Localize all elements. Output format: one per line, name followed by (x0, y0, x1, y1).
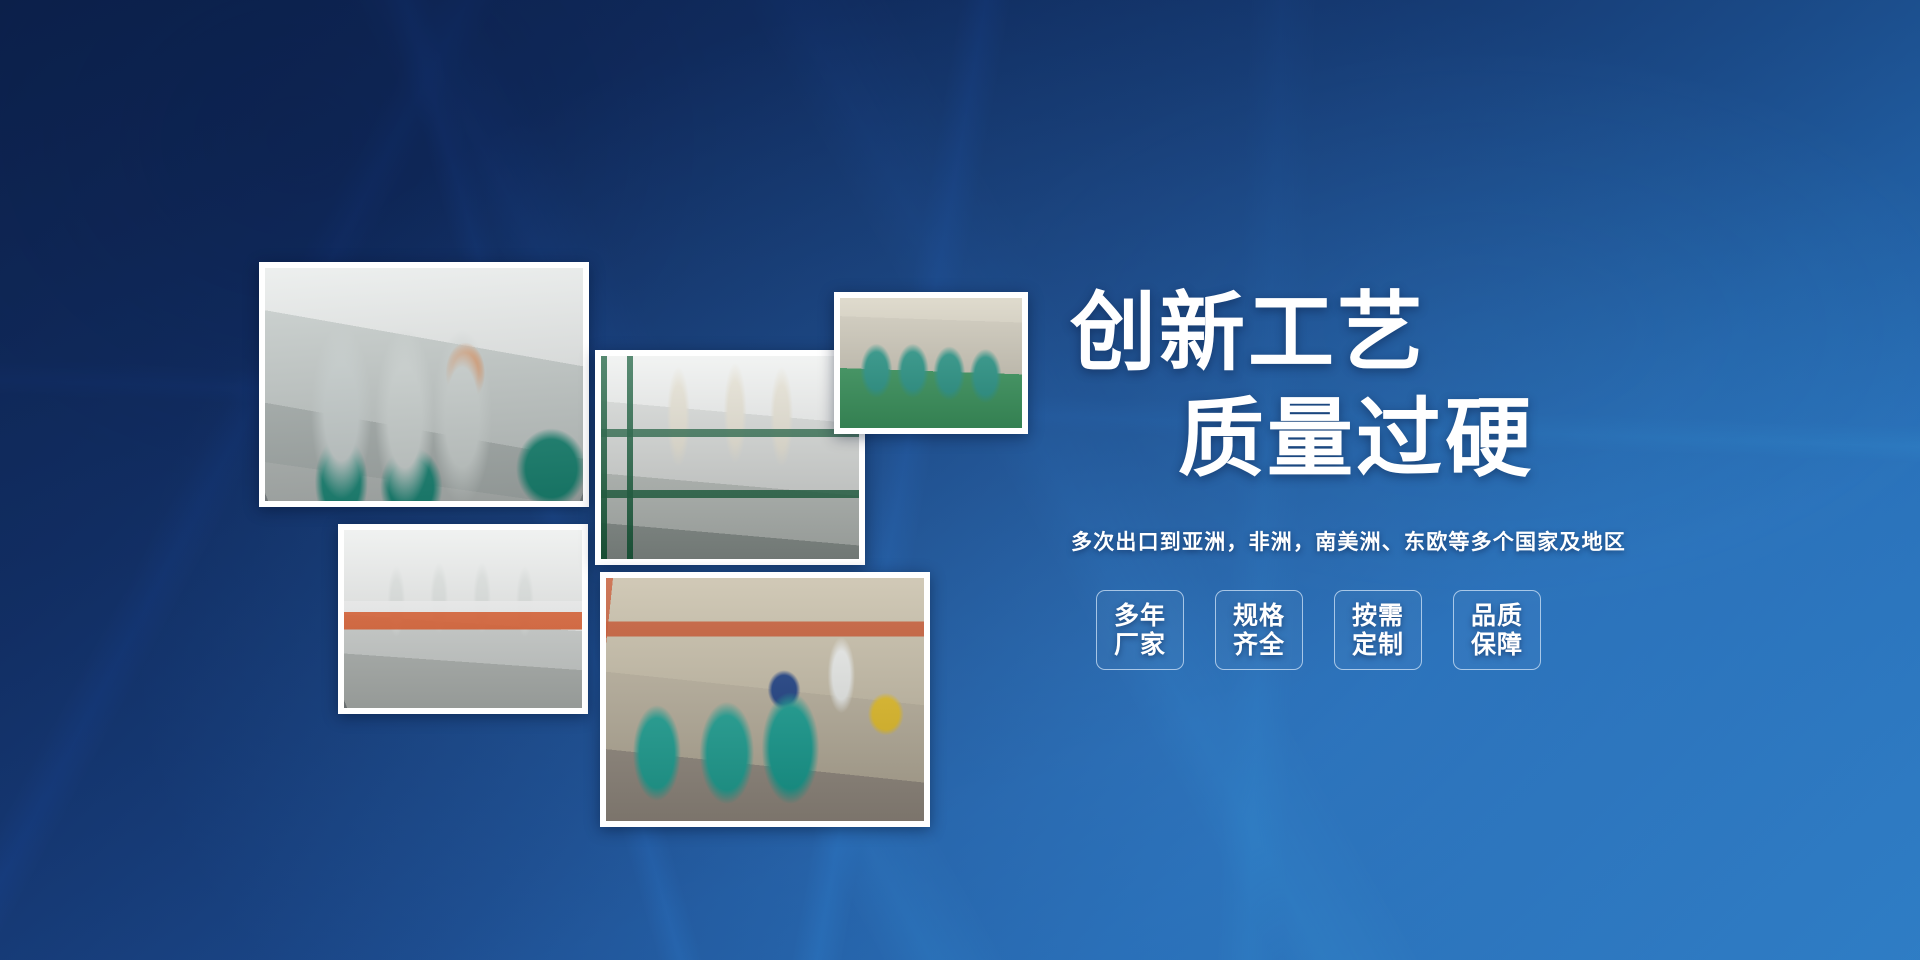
product-photo-mill-set-red-trusses[interactable] (600, 572, 930, 827)
hero-banner: 创新工艺 质量过硬 多次出口到亚洲，非洲，南美洲、东欧等多个国家及地区 多年 厂… (0, 0, 1920, 960)
badge-years-manufacturer-line-1: 多年 (1114, 601, 1166, 631)
badge-years-manufacturer[interactable]: 多年 厂家 (1096, 590, 1184, 670)
badge-custom-made[interactable]: 按需 定制 (1334, 590, 1422, 670)
subtitle: 多次出口到亚洲，非洲，南美洲、东欧等多个国家及地区 (1071, 526, 1830, 556)
photo-collage (0, 0, 1100, 960)
product-photo-milling-line[interactable] (259, 262, 589, 507)
badge-full-specifications-line-2: 齐全 (1233, 630, 1285, 660)
product-photo-flour-mill-frame-image (601, 356, 859, 559)
badge-quality-guarantee-line-1: 品质 (1471, 601, 1523, 631)
product-photo-milling-line-image (265, 268, 583, 501)
copy-block: 创新工艺 质量过硬 多次出口到亚洲，非洲，南美洲、东欧等多个国家及地区 多年 厂… (1070, 290, 1830, 670)
headline-line-2: 质量过硬 (1070, 396, 1830, 482)
badge-custom-made-line-2: 定制 (1352, 630, 1404, 660)
product-photo-teal-mills-workshop[interactable] (834, 292, 1028, 434)
headline: 创新工艺 质量过硬 (1070, 290, 1830, 482)
badge-custom-made-line-1: 按需 (1352, 601, 1404, 631)
product-photo-mill-set-red-trusses-image (606, 578, 924, 821)
product-photo-cleaning-platform[interactable] (338, 524, 588, 714)
badge-list: 多年 厂家 规格 齐全 按需 定制 品质 保障 (1096, 590, 1830, 670)
headline-line-1: 创新工艺 (1070, 290, 1830, 376)
product-photo-teal-mills-workshop-image (840, 298, 1022, 428)
product-photo-flour-mill-frame[interactable] (595, 350, 865, 565)
badge-quality-guarantee[interactable]: 品质 保障 (1453, 590, 1541, 670)
badge-full-specifications[interactable]: 规格 齐全 (1215, 590, 1303, 670)
badge-full-specifications-line-1: 规格 (1233, 601, 1285, 631)
badge-quality-guarantee-line-2: 保障 (1471, 630, 1523, 660)
product-photo-cleaning-platform-image (344, 530, 582, 708)
badge-years-manufacturer-line-2: 厂家 (1114, 630, 1166, 660)
